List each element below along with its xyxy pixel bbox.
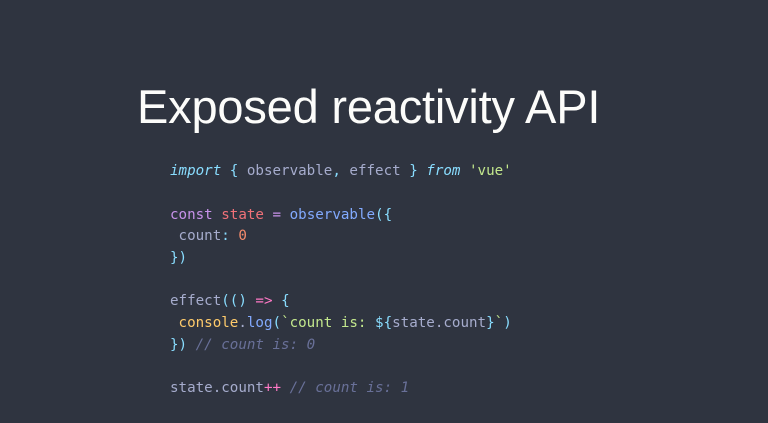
code-token-punct: (() (221, 293, 247, 309)
code-token-plain: state.count (392, 315, 486, 331)
code-token-variable: state (221, 207, 264, 223)
code-token-punct: } (409, 163, 418, 179)
code-token-arrow: => (255, 293, 272, 309)
code-token-function: observable (290, 207, 375, 223)
code-token-punct: : (221, 228, 230, 244)
code-token-comment: // count is: 1 (290, 380, 410, 396)
code-token-string: 'vue' (469, 163, 512, 179)
code-line: effect(() => { (170, 293, 290, 309)
code-line: }) // count is: 0 (170, 337, 315, 353)
code-line: import { observable, effect } from 'vue' (170, 163, 512, 179)
code-token-plain (264, 207, 273, 223)
code-token-plain: count (170, 228, 221, 244)
code-token-plain (281, 207, 290, 223)
code-token-punct: } (486, 315, 495, 331)
code-token-punct: , (332, 163, 341, 179)
code-token-plain: effect (341, 163, 409, 179)
code-token-plain: observable (238, 163, 332, 179)
code-token-plain: state.count (170, 380, 264, 396)
code-snippet: import { observable, effect } from 'vue'… (170, 161, 512, 400)
code-token-object: console (179, 315, 239, 331)
code-token-declare: const (170, 207, 213, 223)
code-token-operator: = (273, 207, 282, 223)
code-token-plain (418, 163, 427, 179)
code-token-increment: ++ (264, 380, 281, 396)
code-line: const state = observable({ (170, 207, 392, 223)
code-token-comment: // count is: 0 (196, 337, 316, 353)
code-token-string: `count is: (281, 315, 375, 331)
code-token-plain (170, 315, 179, 331)
code-token-keyword: from (426, 163, 460, 179)
code-token-keyword: import (170, 163, 221, 179)
code-token-punct: ( (273, 315, 282, 331)
code-token-plain: effect (170, 293, 221, 309)
code-token-punct: ${ (375, 315, 392, 331)
code-content: import { observable, effect } from 'vue'… (170, 163, 512, 396)
slide-canvas: Exposed reactivity API import { observab… (0, 0, 768, 423)
code-token-punct: }) (170, 250, 187, 266)
code-token-plain (221, 163, 230, 179)
code-token-punct: { (281, 293, 290, 309)
code-line: }) (170, 250, 187, 266)
code-token-function: log (247, 315, 273, 331)
page-title: Exposed reactivity API (137, 81, 600, 133)
code-token-punct: ) (503, 315, 512, 331)
code-token-plain (273, 293, 282, 309)
code-line: state.count++ // count is: 1 (170, 380, 409, 396)
code-line: console.log(`count is: ${state.count}`) (170, 315, 512, 331)
code-token-number: 0 (238, 228, 247, 244)
code-token-plain (460, 163, 469, 179)
code-line: count: 0 (170, 228, 247, 244)
code-token-punct: ({ (375, 207, 392, 223)
code-token-punct: }) (170, 337, 187, 353)
code-token-string: ` (495, 315, 504, 331)
code-token-plain (187, 337, 196, 353)
code-token-plain: . (238, 315, 247, 331)
code-token-plain (281, 380, 290, 396)
code-token-plain (213, 207, 222, 223)
